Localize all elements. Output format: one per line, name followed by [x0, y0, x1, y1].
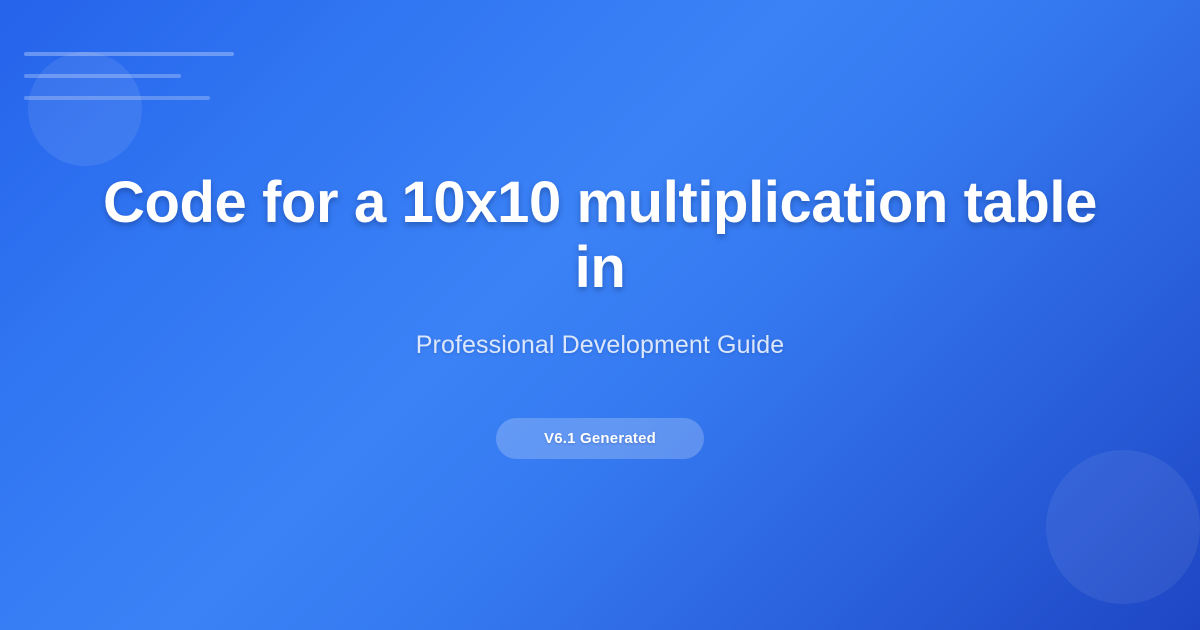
page-title: Code for a 10x10 multiplication table in	[100, 171, 1100, 301]
version-badge: V6.1 Generated	[496, 418, 704, 459]
cover-banner: Code for a 10x10 multiplication table in…	[0, 0, 1200, 630]
page-subtitle: Professional Development Guide	[416, 331, 784, 360]
banner-content: Code for a 10x10 multiplication table in…	[0, 0, 1200, 630]
